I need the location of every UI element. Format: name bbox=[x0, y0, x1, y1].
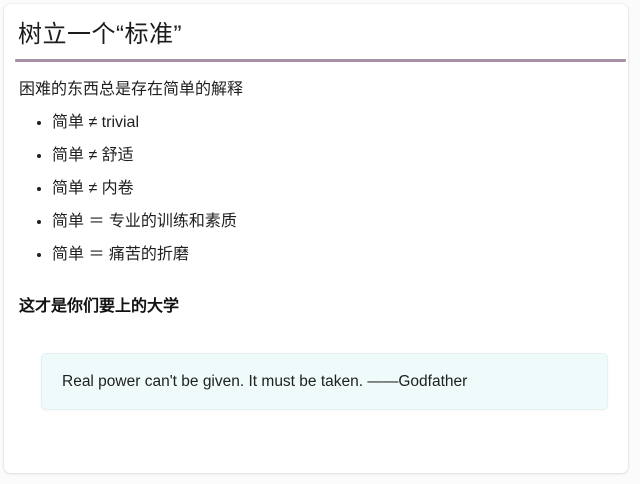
title-underline-rule bbox=[15, 59, 626, 62]
quote-callout-box: Real power can't be given. It must be ta… bbox=[41, 353, 608, 410]
list-item: 简单 ≠ 内卷 bbox=[19, 178, 579, 200]
bullet-dot-icon bbox=[37, 121, 41, 125]
list-item: 简单 ＝ 专业的训练和素质 bbox=[19, 211, 579, 233]
list-item-label: 简单 ＝ 痛苦的折磨 bbox=[52, 246, 189, 263]
quote-text: Real power can't be given. It must be ta… bbox=[42, 371, 467, 393]
list-item: 简单 ＝ 痛苦的折磨 bbox=[19, 244, 579, 266]
bullet-dot-icon bbox=[37, 154, 41, 158]
list-item-label: 简单 ≠ 内卷 bbox=[52, 180, 134, 197]
list-item-label: 简单 ＝ 专业的训练和素质 bbox=[52, 213, 237, 230]
list-item: 简单 ≠ trivial bbox=[19, 112, 579, 134]
bullet-dot-icon bbox=[37, 220, 41, 224]
emphasis-line: 这才是你们要上的大学 bbox=[19, 295, 179, 319]
list-item: 简单 ≠ 舒适 bbox=[19, 145, 579, 167]
lead-paragraph: 困难的东西总是存在简单的解释 bbox=[19, 78, 243, 102]
bullet-dot-icon bbox=[37, 253, 41, 257]
list-item-label: 简单 ≠ 舒适 bbox=[52, 147, 134, 164]
bullet-dot-icon bbox=[37, 187, 41, 191]
slide-card: 树立一个“标准” 困难的东西总是存在简单的解释 简单 ≠ trivial 简单 … bbox=[4, 4, 628, 473]
bullet-list: 简单 ≠ trivial 简单 ≠ 舒适 简单 ≠ 内卷 简单 ＝ 专业的训练和… bbox=[19, 112, 579, 277]
page-title: 树立一个“标准” bbox=[18, 18, 182, 52]
list-item-label: 简单 ≠ trivial bbox=[52, 114, 139, 131]
